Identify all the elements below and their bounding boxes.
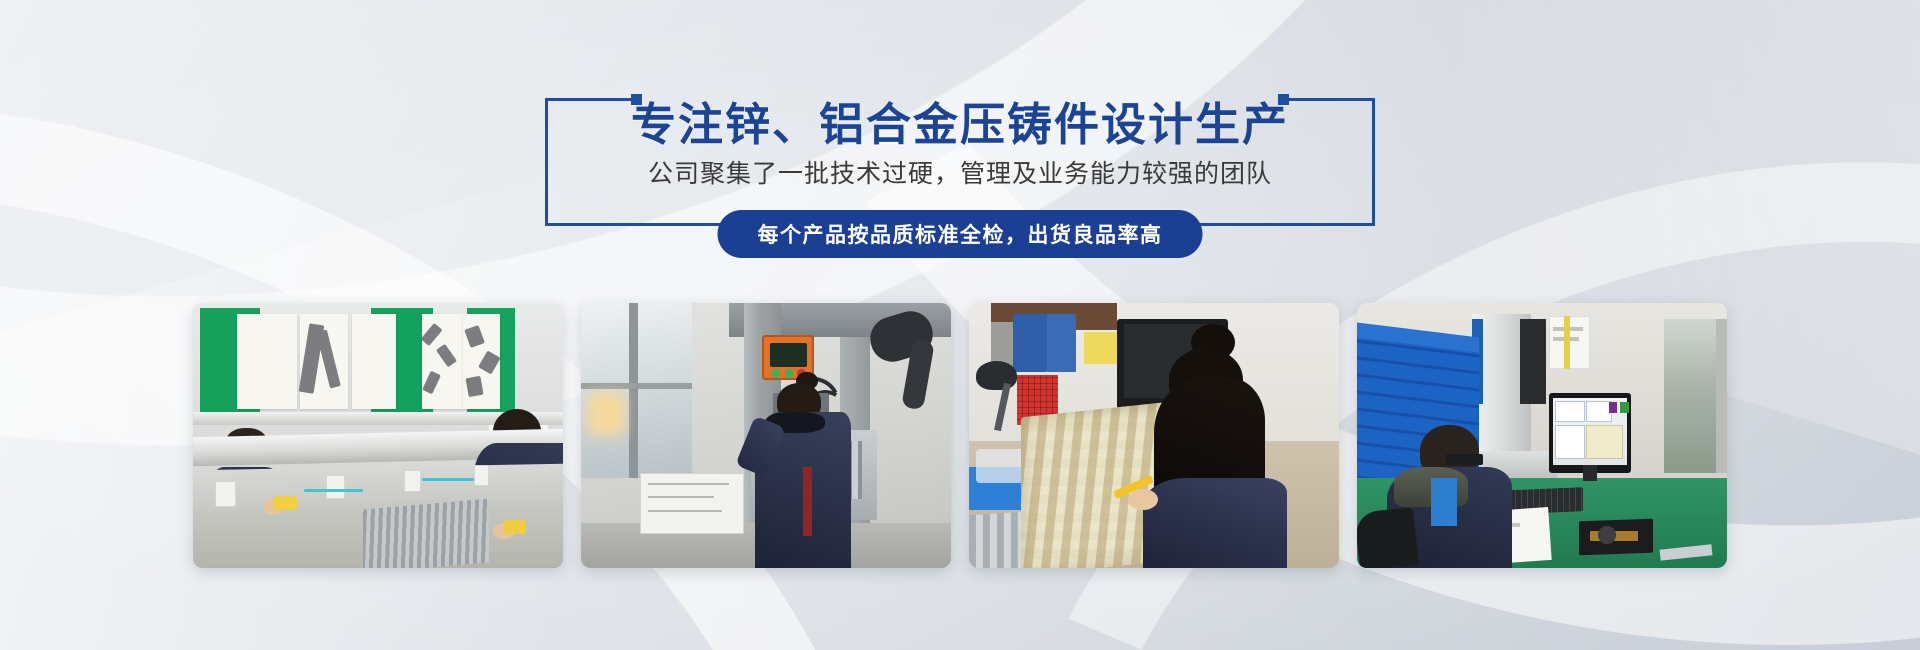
bracket-left-top-line (545, 98, 637, 101)
page-subtitle: 公司聚集了一批技术过硬，管理及业务能力较强的团队 (0, 162, 1920, 187)
photo-gallery (0, 303, 1920, 568)
pill-row: 每个产品按品质标准全检，出货良品率高 (0, 210, 1920, 258)
gallery-photo-workbench[interactable] (193, 303, 563, 568)
bracket-right-top-line (1283, 98, 1375, 101)
banner-header: 专注锌、铝合金压铸件设计生产 公司聚集了一批技术过硬，管理及业务能力较强的团队 … (0, 46, 1920, 221)
gallery-photo-inspection-packing[interactable] (969, 303, 1339, 568)
banner-stage: 专注锌、铝合金压铸件设计生产 公司聚集了一批技术过硬，管理及业务能力较强的团队 … (0, 0, 1920, 650)
quality-badge: 每个产品按品质标准全检，出货良品率高 (718, 210, 1203, 258)
gallery-photo-cmm-inspection[interactable] (1357, 303, 1727, 568)
gallery-photo-diecast-machine[interactable] (581, 303, 951, 568)
page-title: 专注锌、铝合金压铸件设计生产 (0, 102, 1920, 147)
